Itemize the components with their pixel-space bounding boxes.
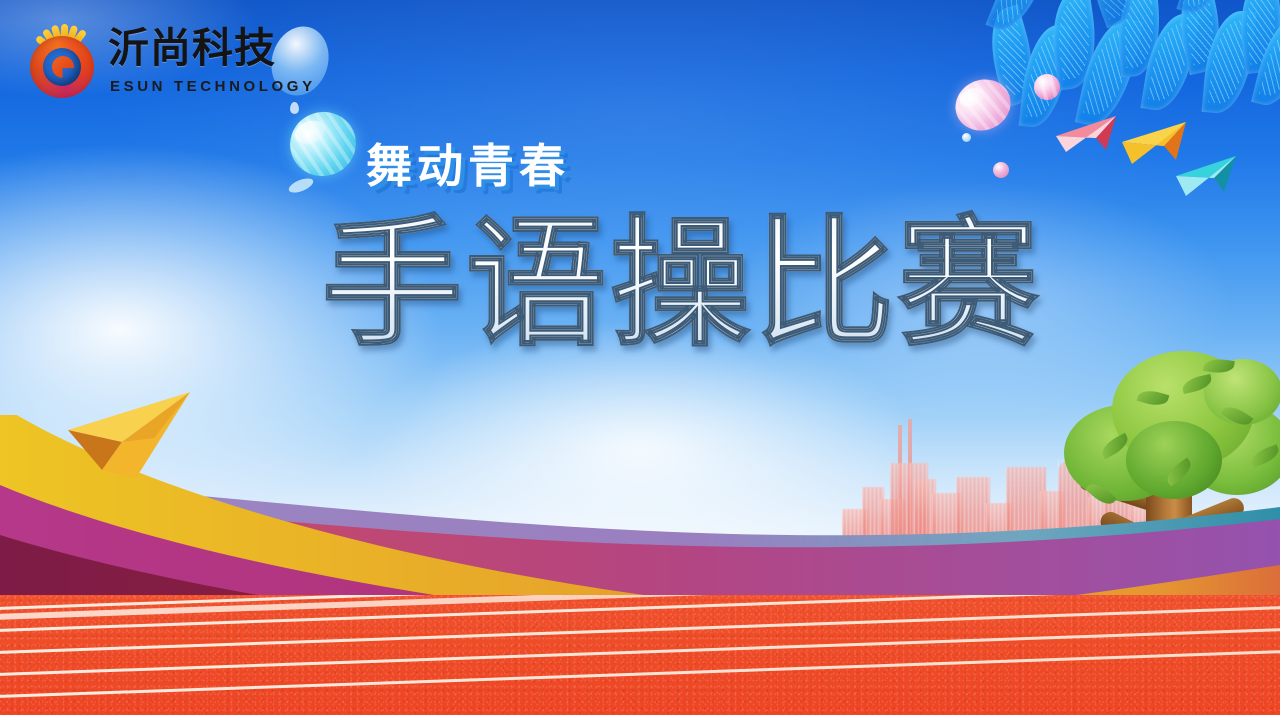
bubble-magenta-dot (993, 162, 1009, 178)
company-name-en: ESUN TECHNOLOGY (110, 78, 316, 95)
bubble-tiny-blue (962, 133, 971, 142)
poster-subtitle: 舞动青春 (366, 130, 570, 196)
company-logo[interactable]: 沂尚科技 ESUN TECHNOLOGY (22, 18, 322, 108)
poster-canvas: 沂尚科技 ESUN TECHNOLOGY 舞动青春 手语操比赛 (0, 0, 1280, 715)
paper-plane-yellow-large (62, 386, 202, 482)
logo-droplet-decor (290, 102, 299, 114)
company-name-cn: 沂尚科技 (108, 28, 276, 69)
paper-plane-teal (1170, 150, 1242, 198)
poster-title: 手语操比赛 (322, 215, 1042, 355)
bubble-pink-small (1034, 74, 1060, 100)
esun-swirl-sun-icon (22, 20, 102, 100)
running-track (0, 595, 1280, 715)
paper-plane-pink (1052, 108, 1122, 156)
